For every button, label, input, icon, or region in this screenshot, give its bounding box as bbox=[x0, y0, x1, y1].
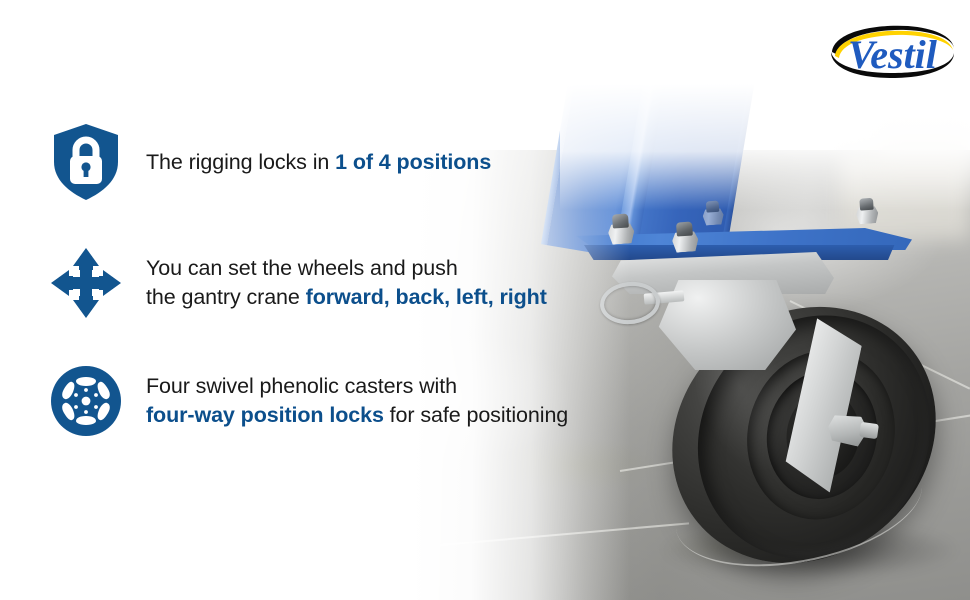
feature-row-rigging-lock: The rigging locks in 1 of 4 positions bbox=[44, 122, 614, 202]
hex-bolt bbox=[671, 221, 699, 253]
feature-text-push-direction: You can set the wheels and push the gant… bbox=[146, 254, 547, 312]
feature-line: the gantry crane forward, back, left, ri… bbox=[146, 283, 547, 312]
vestil-logo-svg: Vestil bbox=[828, 22, 956, 84]
feature-text-rigging-lock: The rigging locks in 1 of 4 positions bbox=[146, 148, 491, 177]
feature-row-swivel-casters: Four swivel phenolic casters with four-w… bbox=[44, 364, 614, 438]
four-way-arrows-icon bbox=[44, 246, 128, 320]
feature-line: The rigging locks in 1 of 4 positions bbox=[146, 150, 491, 174]
feature-line: four-way position locks for safe positio… bbox=[146, 401, 568, 430]
feature-line: Four swivel phenolic casters with bbox=[146, 372, 568, 401]
caster-wheel-icon bbox=[44, 364, 128, 438]
vestil-logo[interactable]: Vestil bbox=[828, 22, 956, 84]
feature-list: The rigging locks in 1 of 4 positions bbox=[44, 112, 614, 482]
feature-line: You can set the wheels and push bbox=[146, 254, 547, 283]
feature-row-push-direction: You can set the wheels and push the gant… bbox=[44, 246, 614, 320]
feature-text-swivel-casters: Four swivel phenolic casters with four-w… bbox=[146, 372, 568, 430]
infographic-canvas: Vestil The rigging locks in 1 of 4 posit… bbox=[0, 0, 970, 600]
vestil-logo-wordmark: Vestil bbox=[848, 32, 938, 77]
shield-lock-icon bbox=[44, 122, 128, 202]
axle-bolt-stub bbox=[859, 422, 879, 439]
